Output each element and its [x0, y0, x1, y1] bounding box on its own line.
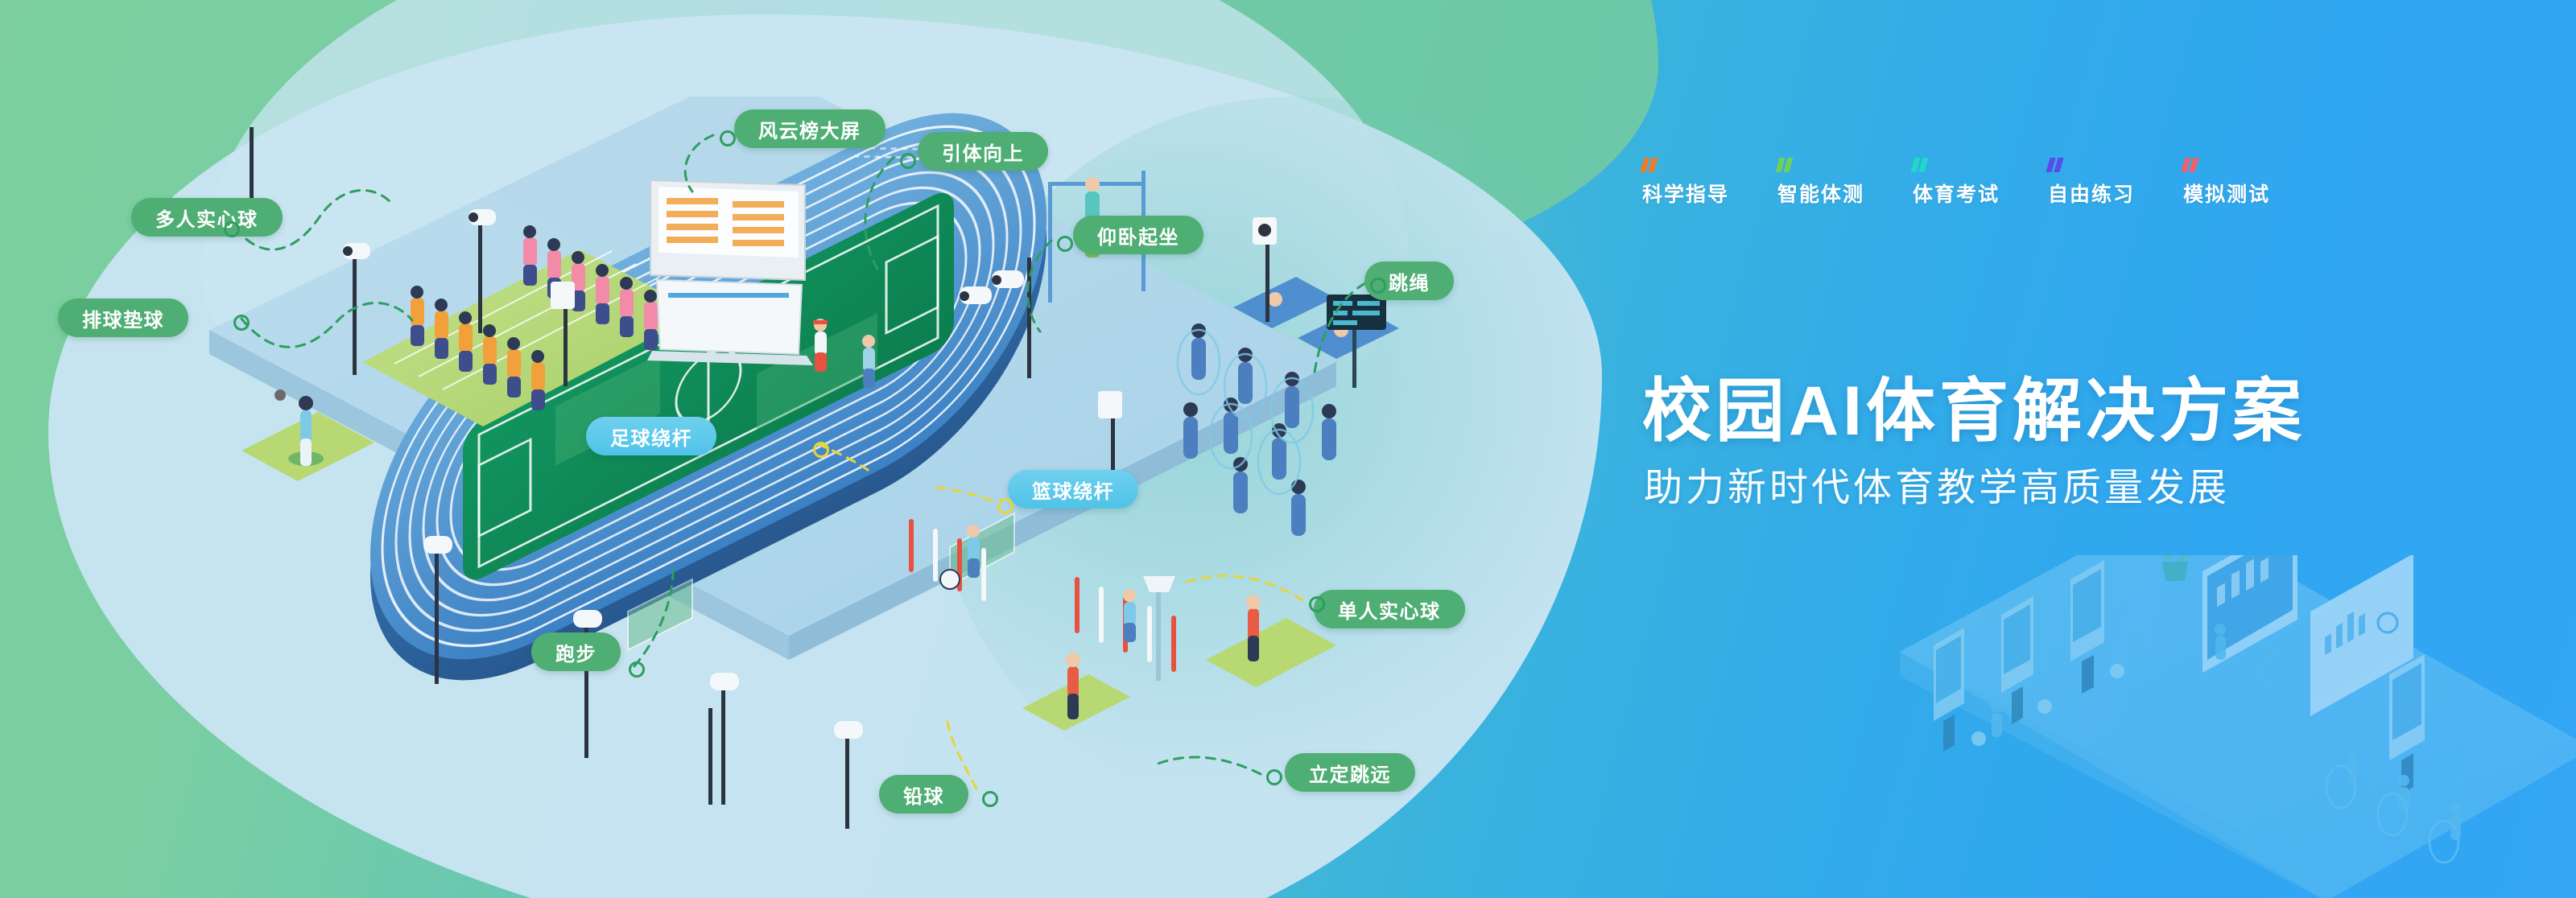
hotspot-anchor-dot — [997, 498, 1013, 514]
hotspot-label[interactable]: 风云榜大屏 — [734, 109, 885, 148]
page-subtitle: 助力新时代体育教学高质量发展 — [1644, 455, 2230, 512]
feature-tag[interactable]: 体育考试 — [1913, 158, 2000, 208]
feature-tag[interactable]: 科学指导 — [1642, 158, 1729, 208]
hotspot-anchor-dot — [900, 153, 916, 169]
hotspot-anchor-dot — [982, 791, 998, 807]
double-slash-icon — [1642, 158, 1729, 172]
double-slash-icon — [2048, 158, 2135, 172]
hotspot-anchor-dot — [1370, 278, 1386, 294]
hotspot-label[interactable]: 仰卧起坐 — [1073, 216, 1203, 254]
feature-tag-label: 体育考试 — [1913, 179, 2000, 208]
page-title: 校园AI体育解决方案 — [1642, 354, 2306, 455]
hotspot-label[interactable]: 跑步 — [531, 632, 621, 671]
hotspot-label[interactable]: 排球垫球 — [58, 299, 188, 337]
hero-banner: 多人实心球排球垫球风云榜大屏引体向上仰卧起坐跳绳足球绕杆篮球绕杆跑步单人实心球铅… — [0, 0, 2576, 898]
hotspot-anchor-dot — [233, 315, 250, 331]
hotspot-label[interactable]: 篮球绕杆 — [1008, 470, 1138, 509]
hotspot-anchor-dot — [1057, 236, 1073, 252]
feature-tag[interactable]: 智能体测 — [1777, 158, 1864, 208]
feature-tag[interactable]: 模拟测试 — [2183, 158, 2270, 208]
feature-tag[interactable]: 自由练习 — [2048, 158, 2135, 208]
hotspot-label[interactable]: 铅球 — [879, 775, 968, 814]
hotspot-label[interactable]: 立定跳远 — [1285, 753, 1415, 792]
hotspot-anchor-dot — [1309, 596, 1325, 612]
hotspot-label[interactable]: 多人实心球 — [131, 198, 283, 237]
double-slash-icon — [1777, 158, 1864, 172]
feature-tag-label: 自由练习 — [2048, 179, 2135, 208]
double-slash-icon — [2183, 158, 2270, 172]
indoor-ai-gym-illustration — [1900, 555, 2576, 898]
feature-tag-label: 科学指导 — [1642, 179, 1729, 208]
hotspot-label[interactable]: 单人实心球 — [1314, 590, 1465, 628]
hero-text-column: 科学指导智能体测体育考试自由练习模拟测试 — [1642, 158, 2479, 208]
hotspot-label[interactable]: 足球绕杆 — [586, 417, 716, 455]
hotspot-anchor-dot — [1266, 769, 1282, 785]
hotspot-anchor-dot — [224, 221, 240, 237]
double-slash-icon — [1913, 158, 2000, 172]
hotspot-anchor-dot — [629, 661, 645, 678]
feature-tag-label: 智能体测 — [1777, 179, 1864, 208]
hotspot-label[interactable]: 引体向上 — [918, 132, 1048, 171]
hotspot-anchor-dot — [720, 130, 736, 146]
hotspot-anchor-dot — [813, 442, 829, 458]
feature-tag-label: 模拟测试 — [2183, 179, 2270, 208]
feature-tag-row: 科学指导智能体测体育考试自由练习模拟测试 — [1642, 158, 2479, 208]
